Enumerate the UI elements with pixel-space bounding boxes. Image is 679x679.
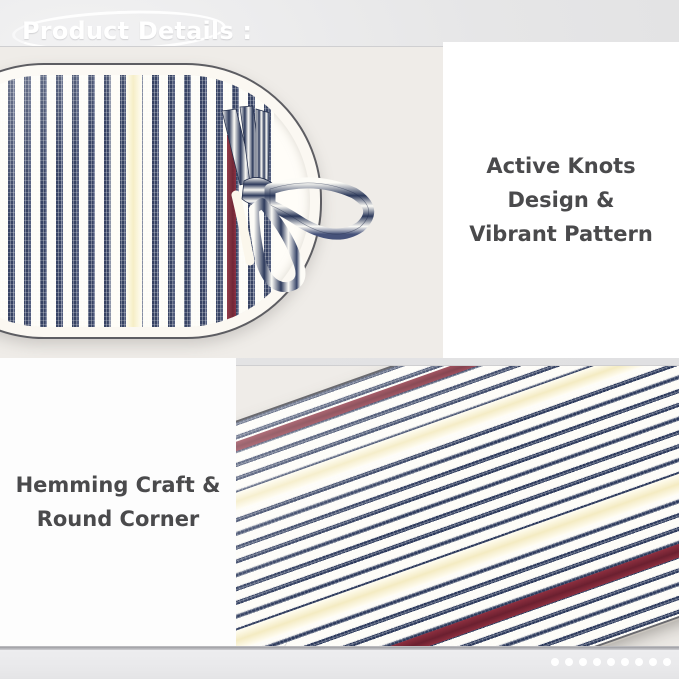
product-details-page: Product Details : xyxy=(0,0,679,679)
feature-card-hemming-text: Hemming Craft & Round Corner xyxy=(6,468,231,536)
carousel-dot[interactable] xyxy=(635,658,643,666)
carousel-dot[interactable] xyxy=(649,658,657,666)
rounded-corner-cushion-shape xyxy=(236,365,679,646)
strip-divider-line xyxy=(0,647,679,650)
feature-card-hemming-craft: Hemming Craft & Round Corner xyxy=(0,358,236,646)
carousel-dot[interactable] xyxy=(663,658,671,666)
bottom-strip xyxy=(0,646,679,679)
cushion-with-tie-knot-photo[interactable] xyxy=(0,46,443,358)
carousel-dot[interactable] xyxy=(621,658,629,666)
carousel-dot[interactable] xyxy=(579,658,587,666)
photo-stage-top-left xyxy=(0,47,443,358)
feature-line-1: Hemming Craft & xyxy=(16,473,221,497)
feature-card-knots-design: Active Knots Design & Vibrant Pattern xyxy=(443,42,679,358)
feature-card-knots-text: Active Knots Design & Vibrant Pattern xyxy=(443,149,679,251)
photo-stage-bottom-right xyxy=(236,366,679,646)
feature-line-2: Vibrant Pattern xyxy=(453,217,669,251)
fabric-highlight-band xyxy=(108,75,120,327)
carousel-dot[interactable] xyxy=(551,658,559,666)
carousel-dot[interactable] xyxy=(593,658,601,666)
carousel-dot[interactable] xyxy=(607,658,615,666)
carousel-dots[interactable] xyxy=(551,658,671,666)
feature-line-2: Round Corner xyxy=(16,502,221,536)
page-title-text: Product Details : xyxy=(22,17,252,45)
ribbon-bow-icon xyxy=(196,103,426,293)
carousel-dot[interactable] xyxy=(565,658,573,666)
cushion-round-corner-photo[interactable] xyxy=(236,365,679,646)
cream-stripe-band xyxy=(126,75,142,327)
feature-line-1: Active Knots Design & xyxy=(486,154,635,212)
